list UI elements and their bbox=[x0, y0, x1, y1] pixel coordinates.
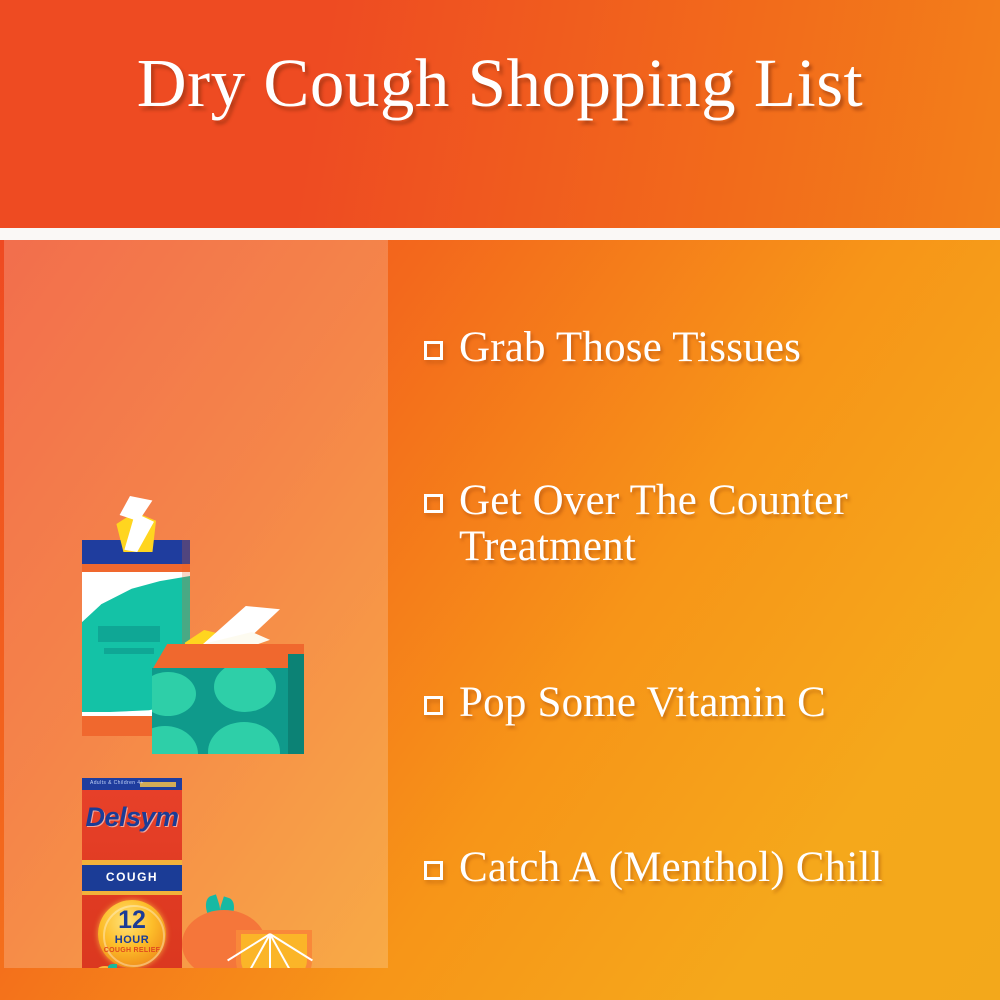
hollow-square-bullet-icon bbox=[424, 494, 443, 513]
tissuebox-dot bbox=[214, 668, 276, 712]
header-divider bbox=[0, 228, 1000, 240]
tissuebox-front-face bbox=[152, 668, 304, 754]
delsym-seal-claim: COUGH RELIEF bbox=[98, 947, 166, 954]
list-item-label: Pop Some Vitamin C bbox=[459, 680, 826, 726]
illustration-panel: Adults & Children 4+ Delsym COUGH 12 HOU… bbox=[4, 240, 388, 968]
tissuebox-dot bbox=[208, 722, 280, 754]
hollow-square-bullet-icon bbox=[424, 861, 443, 880]
list-item[interactable]: Grab Those Tissues bbox=[424, 325, 1000, 371]
tissuebox-dot bbox=[152, 726, 198, 754]
list-item[interactable]: Catch A (Menthol) Chill bbox=[424, 845, 1000, 891]
delsym-top-band-text: Adults & Children 4+ bbox=[90, 780, 174, 788]
carton-label-bar-primary bbox=[98, 626, 160, 642]
header-banner: Dry Cough Shopping List bbox=[0, 0, 1000, 228]
list-item-label: Catch A (Menthol) Chill bbox=[459, 845, 883, 891]
polka-dot-tissue-box-icon bbox=[152, 644, 304, 754]
page-title: Dry Cough Shopping List bbox=[0, 47, 1000, 119]
delsym-seal-number: 12 bbox=[98, 908, 166, 933]
delsym-mini-leaf-icon bbox=[108, 964, 117, 968]
list-item[interactable]: Pop Some Vitamin C bbox=[424, 680, 1000, 726]
delsym-box-icon: Adults & Children 4+ Delsym COUGH 12 HOU… bbox=[82, 778, 182, 968]
hollow-square-bullet-icon bbox=[424, 341, 443, 360]
carton-orange-stripe bbox=[82, 564, 190, 572]
hollow-square-bullet-icon bbox=[424, 696, 443, 715]
orange-slice-segment bbox=[269, 934, 271, 968]
delsym-gold-band-bottom bbox=[82, 891, 182, 895]
list-item-label: Get Over The Counter Treatment bbox=[459, 478, 1000, 569]
delsym-seal-unit: HOUR bbox=[98, 934, 166, 946]
shopping-list: Grab Those Tissues Get Over The Counter … bbox=[424, 240, 1000, 1000]
orange-slice-icon bbox=[236, 930, 312, 968]
list-item-label: Grab Those Tissues bbox=[459, 325, 801, 371]
tissuebox-dot bbox=[152, 672, 196, 716]
tissuebox-top-face bbox=[152, 644, 304, 670]
poster-root: Dry Cough Shopping List bbox=[0, 0, 1000, 1000]
delsym-category-label: COUGH bbox=[82, 870, 182, 884]
tissuebox-right-face bbox=[288, 654, 304, 754]
delsym-brand-name: Delsym bbox=[82, 802, 182, 833]
carton-label-bar-secondary bbox=[104, 648, 154, 654]
list-item[interactable]: Get Over The Counter Treatment bbox=[424, 478, 1000, 569]
